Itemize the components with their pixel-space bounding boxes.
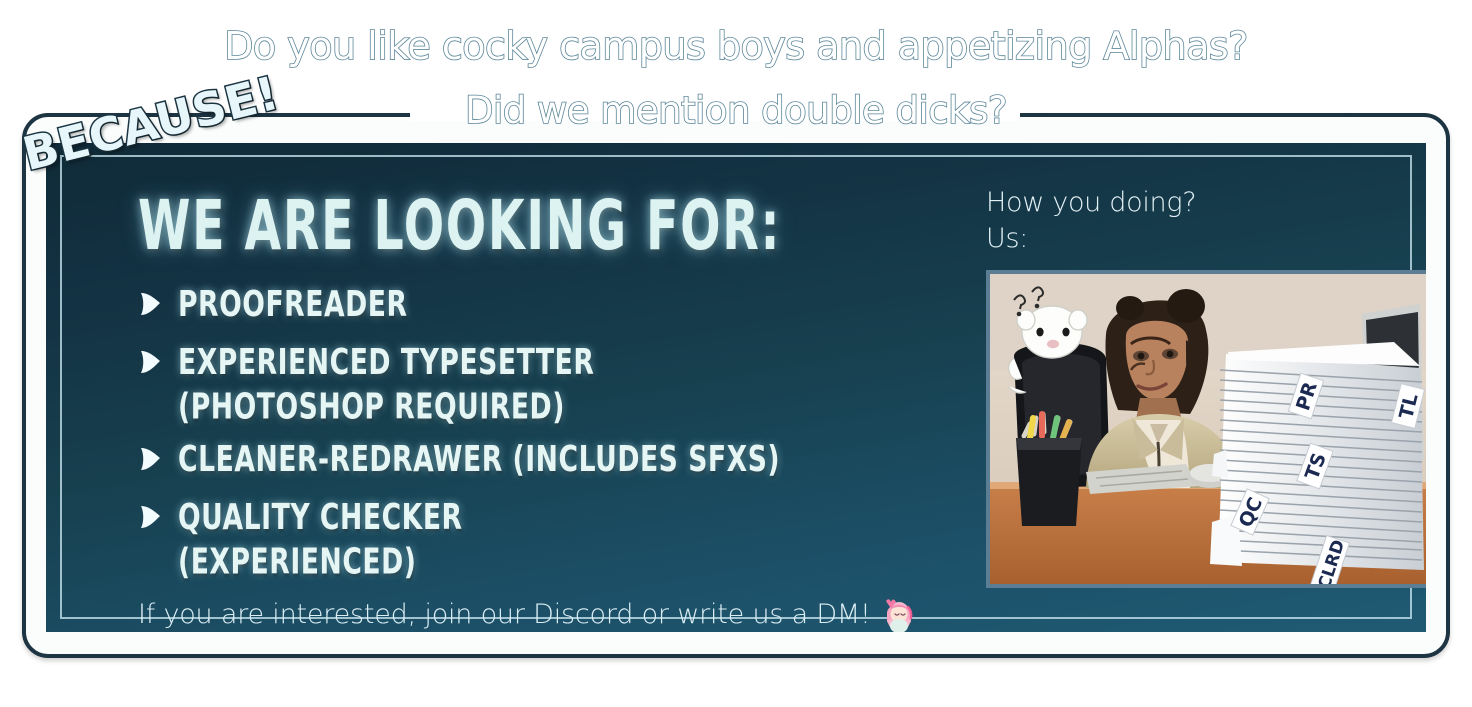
- chevron-bullet-icon: [138, 505, 164, 529]
- list-item: PROOFREADER: [138, 283, 938, 322]
- recruitment-column: WE ARE LOOKING FOR: PROOFREADER EXPERIEN…: [138, 191, 938, 632]
- chevron-bullet-icon: [138, 447, 164, 471]
- role-list: PROOFREADER EXPERIENCED TYPESETTER (PHOT…: [138, 283, 938, 574]
- list-item: EXPERIENCED TYPESETTER (PHOTOSHOP REQUIR…: [138, 341, 938, 419]
- cta-text: If you are interested, join our Discord …: [138, 599, 871, 630]
- mood-column: How you doing? Us:: [986, 185, 1426, 588]
- chibi-anime-girl-sticker: [879, 593, 919, 632]
- role-label: QUALITY CHECKER (EXPERIENCED): [178, 496, 463, 585]
- paper-stack: PR TL TS: [1210, 342, 1424, 584]
- list-item: QUALITY CHECKER (EXPERIENCED): [138, 496, 938, 574]
- header-line-1: Do you like cocky campus boys and appeti…: [0, 14, 1472, 79]
- poster-panel: WE ARE LOOKING FOR: PROOFREADER EXPERIEN…: [46, 143, 1426, 632]
- answer-label: Us:: [986, 221, 1426, 257]
- page-title: WE ARE LOOKING FOR:: [138, 191, 794, 259]
- chevron-bullet-icon: [138, 350, 164, 374]
- call-to-action: If you are interested, join our Discord …: [138, 593, 938, 632]
- chevron-bullet-icon: [138, 292, 164, 316]
- role-label: CLEANER-REDRAWER (INCLUDES SFXS): [178, 438, 780, 483]
- poster-canvas: Do you like cocky campus boys and appeti…: [0, 0, 1472, 707]
- list-item: CLEANER-REDRAWER (INCLUDES SFXS): [138, 438, 938, 477]
- role-label: EXPERIENCED TYPESETTER (PHOTOSHOP REQUIR…: [178, 341, 594, 430]
- photo-content: PR TL TS: [990, 274, 1426, 584]
- question-text: How you doing?: [986, 185, 1426, 221]
- reaction-photo: PR TL TS: [986, 270, 1426, 588]
- role-label: PROOFREADER: [178, 283, 408, 328]
